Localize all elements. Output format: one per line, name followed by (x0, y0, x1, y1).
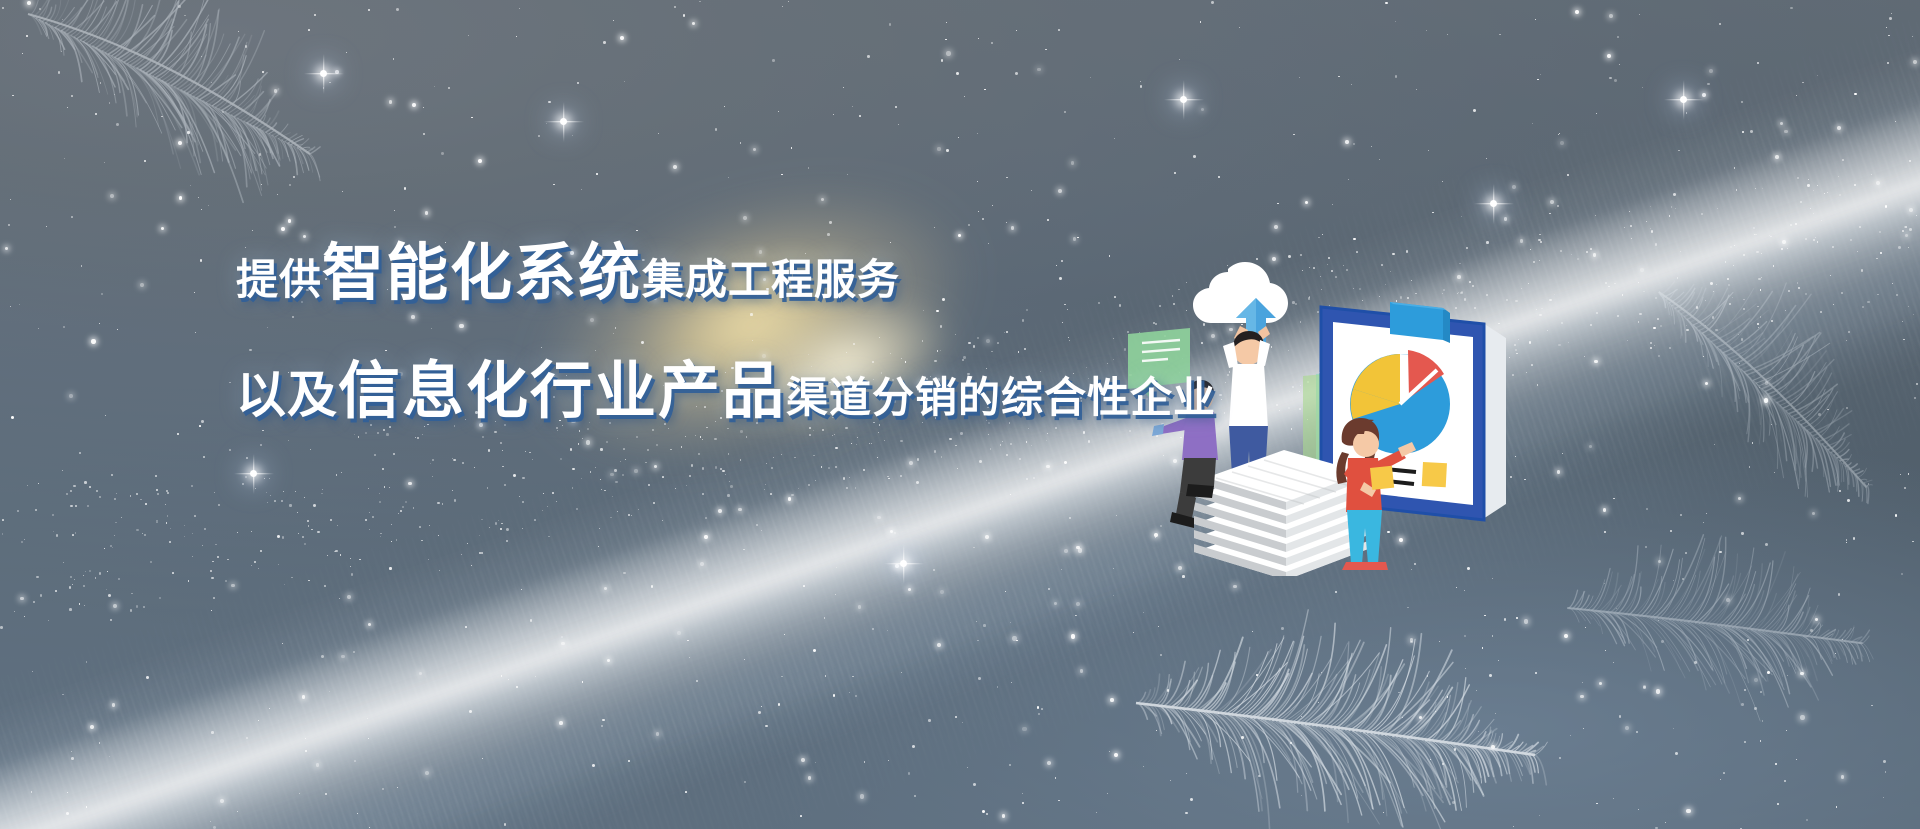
star (1083, 431, 1085, 433)
star (1886, 27, 1887, 28)
star (379, 501, 381, 503)
star (500, 528, 502, 530)
star (1782, 240, 1786, 244)
star (560, 458, 562, 460)
star (227, 559, 229, 561)
star (166, 522, 168, 524)
star (1348, 179, 1349, 180)
star (872, 628, 874, 630)
star (1912, 36, 1913, 37)
headline-line2-part2: 信息化行业产品 (338, 340, 786, 430)
star (772, 59, 775, 62)
star (438, 535, 439, 536)
star (400, 510, 402, 512)
star (1833, 304, 1834, 305)
star (556, 501, 557, 502)
star (1725, 261, 1727, 263)
star (1669, 215, 1670, 216)
star (439, 570, 440, 571)
star (778, 703, 781, 706)
star (354, 434, 355, 435)
star (299, 793, 300, 794)
star (191, 485, 193, 487)
star (200, 259, 203, 262)
star (957, 468, 958, 469)
star (1535, 19, 1536, 20)
star (109, 756, 110, 757)
star (1701, 213, 1703, 215)
star (142, 533, 143, 534)
star (991, 42, 992, 43)
star (1318, 237, 1320, 239)
star (69, 586, 72, 589)
star (888, 760, 889, 761)
star (1432, 212, 1433, 213)
star (504, 823, 507, 826)
star (855, 695, 857, 697)
star (324, 585, 326, 587)
star (1006, 177, 1008, 179)
star (813, 430, 814, 431)
star (291, 577, 293, 579)
bright-star (560, 118, 567, 125)
star (781, 174, 783, 176)
star (1857, 251, 1858, 252)
star (1885, 205, 1888, 208)
star (422, 434, 423, 435)
star (781, 676, 783, 678)
star (603, 41, 606, 44)
star (859, 115, 861, 117)
star (1675, 208, 1676, 209)
star (1638, 321, 1639, 322)
star (978, 677, 981, 680)
star (339, 598, 340, 599)
star (1909, 208, 1914, 213)
star (1916, 215, 1917, 216)
star (380, 533, 382, 535)
star (546, 123, 547, 124)
star (1892, 283, 1894, 285)
star (1802, 82, 1804, 84)
star (705, 517, 707, 519)
star (1800, 201, 1802, 203)
star (83, 575, 84, 576)
star (949, 438, 952, 441)
star (277, 535, 280, 538)
star (357, 813, 358, 814)
star (1889, 17, 1892, 20)
star (1646, 508, 1648, 510)
star (155, 475, 157, 477)
star (73, 485, 76, 488)
star (210, 821, 211, 822)
star (1730, 246, 1733, 249)
star (1562, 453, 1563, 454)
star (572, 468, 575, 471)
star (195, 332, 196, 333)
star (72, 534, 74, 536)
star (847, 174, 848, 175)
star (329, 691, 330, 692)
star (204, 528, 206, 530)
star (543, 493, 544, 494)
star (513, 474, 516, 477)
star (656, 444, 658, 446)
star (398, 513, 399, 514)
star (506, 528, 509, 531)
star (803, 585, 805, 587)
star (70, 490, 72, 492)
star (662, 476, 664, 478)
star (380, 536, 381, 537)
star (104, 548, 105, 549)
star (1775, 155, 1779, 159)
star (1107, 793, 1108, 794)
star (305, 750, 307, 752)
star (48, 620, 50, 622)
star (743, 216, 747, 220)
star (647, 449, 649, 451)
star (369, 529, 370, 530)
star (801, 758, 805, 762)
star (353, 651, 355, 653)
star (856, 444, 858, 446)
star (1026, 478, 1028, 480)
star (744, 659, 745, 660)
star (251, 565, 252, 566)
star (1492, 578, 1493, 579)
star (900, 440, 902, 442)
star (1824, 193, 1825, 194)
star (231, 584, 235, 588)
star (519, 8, 520, 9)
star (347, 595, 351, 599)
star (855, 487, 857, 489)
star (10, 306, 11, 307)
star (321, 493, 323, 495)
star (1790, 224, 1792, 226)
star (1905, 226, 1908, 229)
star (91, 339, 96, 344)
star (622, 474, 624, 476)
star (1005, 591, 1006, 592)
star (321, 655, 324, 658)
star (1058, 29, 1060, 31)
star (1379, 159, 1380, 160)
star (836, 567, 838, 569)
star (302, 536, 304, 538)
star (964, 96, 965, 97)
star (38, 328, 39, 329)
star (743, 549, 745, 551)
star (1913, 60, 1917, 64)
star (311, 529, 313, 531)
star (962, 722, 963, 723)
star (894, 532, 896, 534)
star (298, 533, 299, 534)
star (308, 525, 309, 526)
star (121, 517, 122, 518)
star (1908, 247, 1909, 248)
star (2, 7, 4, 9)
star (542, 510, 543, 511)
star (1593, 253, 1597, 257)
star (278, 564, 279, 565)
star (107, 571, 108, 572)
headline-line1-part1: 提供 (236, 246, 322, 307)
star (1797, 282, 1799, 284)
star (96, 490, 98, 492)
star (702, 439, 703, 440)
star (27, 485, 28, 486)
star (1671, 206, 1673, 208)
star (1680, 251, 1681, 252)
star (1299, 77, 1300, 78)
star (254, 561, 256, 563)
star (1675, 752, 1678, 755)
star (794, 457, 795, 458)
star (656, 732, 660, 736)
star (623, 448, 625, 450)
star (282, 536, 285, 539)
star (99, 323, 100, 324)
star (628, 760, 630, 762)
star (704, 535, 708, 539)
star (908, 588, 912, 592)
star (267, 502, 268, 503)
star (696, 680, 698, 682)
star (462, 462, 464, 464)
star (281, 500, 283, 502)
star (437, 502, 440, 505)
star (1815, 237, 1816, 238)
star (889, 23, 891, 25)
star (1665, 822, 1666, 823)
star (548, 536, 550, 538)
star (1830, 275, 1831, 276)
star (1473, 109, 1476, 112)
star (105, 415, 106, 416)
star (1760, 740, 1762, 742)
bright-star (900, 560, 907, 567)
star (559, 721, 563, 725)
star (1577, 258, 1579, 260)
star (727, 494, 730, 497)
star (1332, 204, 1333, 205)
star (115, 522, 117, 524)
star (374, 454, 376, 456)
star (113, 604, 117, 608)
star (389, 487, 390, 488)
star (1723, 772, 1725, 774)
star (479, 535, 480, 536)
star (730, 485, 733, 488)
star (702, 493, 704, 495)
star (636, 436, 638, 438)
star (1883, 797, 1885, 799)
star (377, 432, 379, 434)
star (977, 181, 978, 182)
star (448, 87, 450, 89)
star (508, 679, 509, 680)
star (738, 508, 742, 512)
star (225, 580, 227, 582)
star (753, 148, 757, 152)
star (628, 514, 630, 516)
star (220, 799, 224, 803)
star (14, 611, 15, 612)
star (89, 570, 91, 572)
star (884, 440, 885, 441)
star (1797, 177, 1799, 179)
star (578, 443, 580, 445)
star (177, 433, 179, 435)
star (260, 444, 262, 446)
star (1609, 14, 1614, 19)
star (1558, 344, 1560, 346)
star (900, 475, 902, 477)
star (620, 36, 624, 40)
star (213, 826, 216, 829)
star (683, 14, 686, 17)
star (1750, 130, 1753, 133)
star (111, 474, 113, 476)
star (645, 462, 646, 463)
star (1416, 89, 1417, 90)
star (586, 440, 591, 445)
star (1026, 441, 1028, 443)
star (1033, 477, 1035, 479)
star (419, 526, 421, 528)
star (815, 762, 816, 763)
star (941, 456, 943, 458)
star (1200, 21, 1202, 23)
star (495, 522, 498, 525)
star (788, 1, 789, 2)
star (165, 504, 166, 505)
star (824, 617, 826, 619)
star (617, 438, 618, 439)
star (1798, 287, 1801, 290)
star (1046, 465, 1050, 469)
star (501, 675, 503, 677)
star (1305, 201, 1308, 204)
star (1631, 238, 1633, 240)
headline-line2-part1: 以及 (236, 355, 338, 427)
star (313, 504, 316, 507)
star (504, 484, 506, 486)
star (1639, 313, 1641, 315)
star (258, 568, 259, 569)
star (928, 719, 931, 722)
star (624, 81, 625, 82)
star (979, 460, 982, 463)
star (1114, 138, 1115, 139)
star (56, 534, 58, 536)
star (428, 559, 430, 561)
star (367, 718, 368, 719)
star (773, 457, 774, 458)
star (631, 515, 632, 516)
star (1447, 34, 1448, 35)
star (1757, 62, 1759, 64)
star (1571, 254, 1572, 255)
star (194, 292, 196, 294)
star (778, 111, 779, 112)
star (1832, 246, 1834, 248)
star (1426, 30, 1427, 31)
star (415, 437, 416, 438)
star (40, 594, 43, 597)
star (1719, 23, 1721, 25)
star (846, 487, 848, 489)
star (1646, 221, 1647, 222)
star (487, 487, 489, 489)
star (1054, 602, 1057, 605)
star (1859, 226, 1861, 228)
star (101, 293, 103, 295)
star (1047, 219, 1049, 221)
star (1010, 622, 1011, 623)
star (843, 87, 844, 88)
feather-top-left (10, 0, 440, 232)
star (89, 486, 91, 488)
star (1586, 251, 1588, 253)
star (689, 657, 690, 658)
star (1385, 2, 1388, 5)
star (535, 676, 536, 677)
star (1867, 301, 1870, 304)
bright-star (1680, 96, 1687, 103)
star (145, 503, 147, 505)
star (242, 483, 244, 485)
star (973, 547, 975, 549)
star (1744, 741, 1746, 743)
star (1781, 248, 1784, 251)
star (11, 416, 14, 419)
star (561, 636, 563, 638)
star (79, 603, 81, 605)
star (325, 793, 328, 796)
star (419, 672, 422, 675)
star (781, 454, 782, 455)
star (857, 437, 858, 438)
star (201, 420, 204, 423)
star (172, 572, 174, 574)
star (368, 623, 371, 626)
star (1590, 324, 1592, 326)
star (184, 525, 185, 526)
star (1011, 682, 1012, 683)
star (1064, 549, 1068, 553)
star (977, 133, 978, 134)
star (1486, 158, 1487, 159)
star (610, 473, 614, 477)
star (557, 430, 558, 431)
star (157, 493, 159, 495)
star (441, 152, 444, 155)
star (689, 475, 691, 477)
star (1909, 228, 1912, 231)
star (1614, 79, 1617, 82)
star (211, 731, 214, 734)
star (106, 589, 107, 590)
star (170, 528, 172, 530)
star (482, 758, 483, 759)
star (372, 516, 374, 518)
star (662, 520, 663, 521)
